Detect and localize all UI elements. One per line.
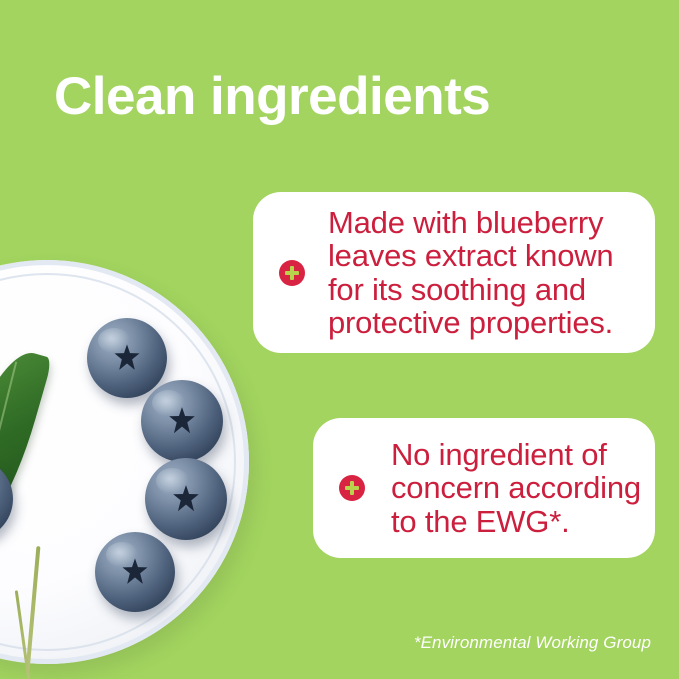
blueberry [141, 380, 223, 462]
plus-vertical-bar [290, 266, 294, 280]
page-title: Clean ingredients [54, 69, 490, 125]
card-ewg: No ingredient of concern according to th… [313, 418, 655, 558]
blueberry-dish-photo [0, 260, 255, 679]
plus-badge-icon [279, 260, 305, 286]
plus-vertical-bar [350, 481, 354, 495]
plus-badge-icon [339, 475, 365, 501]
blueberry [145, 458, 227, 540]
clean-ingredients-poster: Clean ingredients Made [0, 0, 679, 679]
footnote: *Environmental Working Group [414, 633, 651, 653]
blueberry [95, 532, 175, 612]
blueberry [87, 318, 167, 398]
card-clean-ingredient: Made with blueberry leaves extract known… [253, 192, 655, 353]
card-text: No ingredient of concern according to th… [391, 438, 645, 539]
card-text: Made with blueberry leaves extract known… [328, 206, 645, 340]
